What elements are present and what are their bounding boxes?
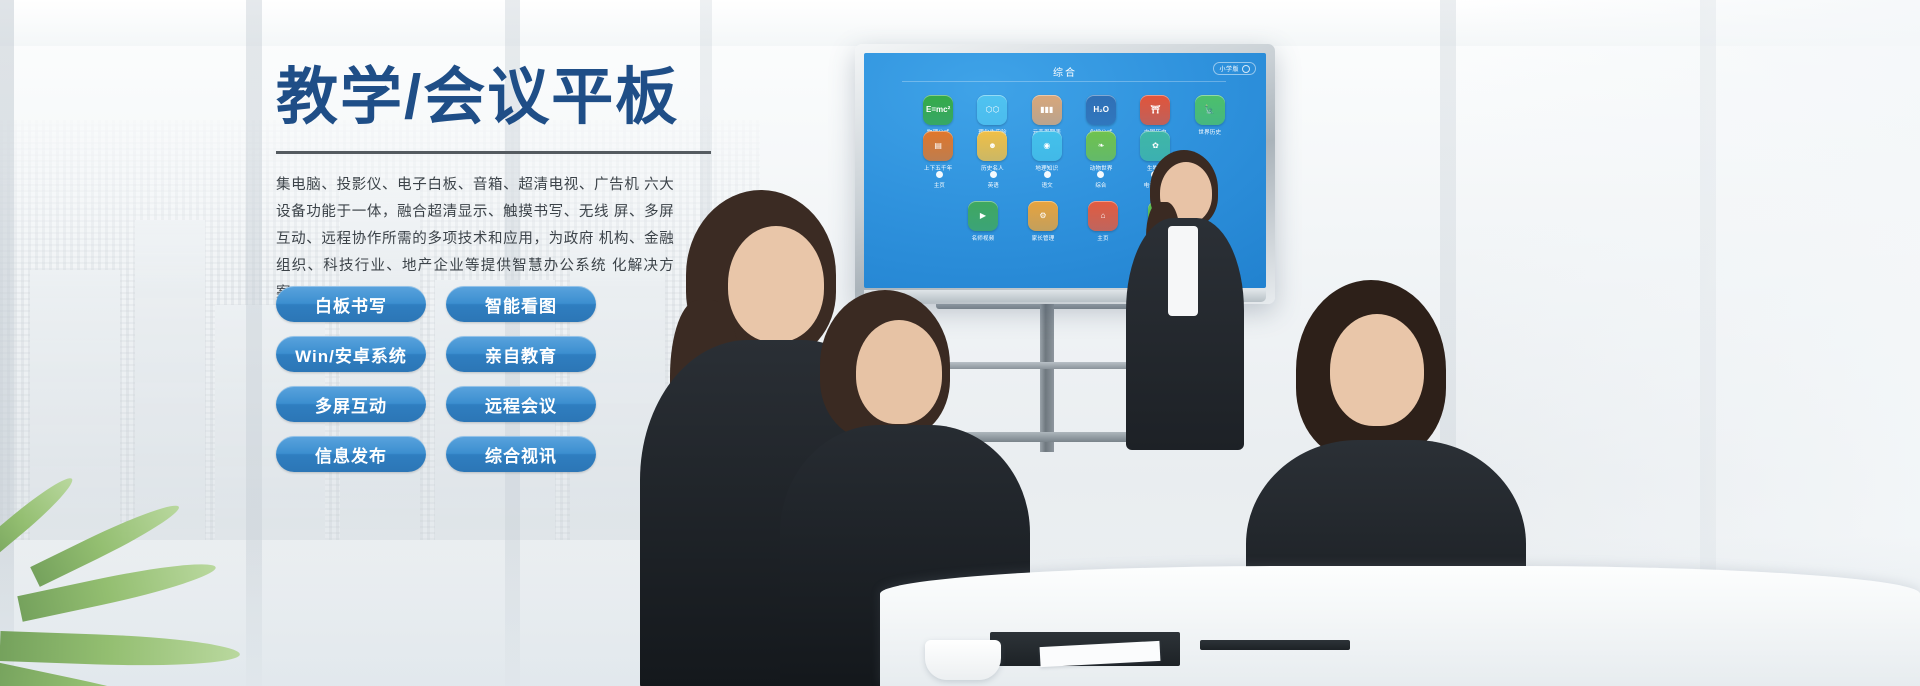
power-dot-icon — [1242, 65, 1250, 73]
feature-button-whiteboard-writing[interactable]: 白板书写 — [276, 286, 426, 322]
stand-pole — [1040, 302, 1054, 452]
subject-dot-icon — [1044, 171, 1051, 178]
laptop-right — [1200, 640, 1350, 650]
animal-world-icon: ❧ — [1086, 131, 1116, 161]
screen-divider — [902, 81, 1226, 82]
app-label: 名师视频 — [972, 234, 995, 242]
title-divider — [276, 151, 711, 154]
hero-copy: 教学/会议平板 集电脑、投影仪、电子白板、音箱、超清电视、广告机 六大设备功能于… — [276, 62, 796, 322]
hero-banner: 综合 小学版 E=mc²物理公式⬡⬡理化生实验▮▮▮元素周期表H₂O化学公式⛩中… — [0, 0, 1920, 686]
app-china-history[interactable]: ⛩中国历史 — [1131, 95, 1179, 136]
app-physics-formula[interactable]: E=mc²物理公式 — [914, 95, 962, 136]
app-five-thousand-years[interactable]: ▤上下五千年 — [914, 131, 962, 172]
physics-formula-icon: E=mc² — [923, 95, 953, 125]
subject-item[interactable]: 英语 — [968, 171, 1019, 189]
app-world-history[interactable]: 🗽世界历史 — [1186, 95, 1234, 136]
feature-button-multi-screen-interaction[interactable]: 多屏互动 — [276, 386, 426, 422]
app-teacher-video[interactable]: ▶名师视频 — [958, 201, 1008, 242]
subject-item[interactable]: 综合 — [1075, 171, 1126, 189]
historic-figures-icon: ☻ — [977, 131, 1007, 161]
person-presenter — [1120, 150, 1250, 450]
subject-dot-icon — [1097, 171, 1104, 178]
periodic-table-icon: ▮▮▮ — [1032, 95, 1062, 125]
subject-item[interactable]: 语文 — [1022, 171, 1073, 189]
app-periodic-table[interactable]: ▮▮▮元素周期表 — [1023, 95, 1071, 136]
app-chemistry-lab[interactable]: ⬡⬡理化生实验 — [968, 95, 1016, 136]
teacher-video-icon: ▶ — [968, 201, 998, 231]
app-parent-manage[interactable]: ⚙家长管理 — [1018, 201, 1068, 242]
app-chemistry-formula[interactable]: H₂O化学公式 — [1077, 95, 1125, 136]
subject-item[interactable]: 主页 — [914, 171, 965, 189]
chemistry-formula-icon: H₂O — [1086, 95, 1116, 125]
world-history-icon: 🗽 — [1195, 95, 1225, 125]
conference-table — [880, 566, 1920, 686]
feature-button-integrated-video[interactable]: 综合视讯 — [446, 436, 596, 472]
app-animal-world[interactable]: ❧动物世界 — [1077, 131, 1125, 172]
feature-button-parent-child-education[interactable]: 亲自教育 — [446, 336, 596, 372]
feature-button-grid: 白板书写智能看图Win/安卓系统亲自教育多屏互动远程会议信息发布综合视讯 — [276, 286, 606, 472]
geography-icon: ◉ — [1032, 131, 1062, 161]
subject-dot-icon — [990, 171, 997, 178]
app-grid-row1: E=mc²物理公式⬡⬡理化生实验▮▮▮元素周期表H₂O化学公式⛩中国历史🗽世界历… — [914, 95, 1234, 136]
screen-title: 综合 — [864, 64, 1266, 79]
five-thousand-years-icon: ▤ — [923, 131, 953, 161]
subject-label: 主页 — [934, 181, 945, 189]
subject-label: 综合 — [1095, 181, 1106, 189]
app-label: 主页 — [1097, 234, 1108, 242]
palm-plant — [0, 446, 310, 686]
app-historic-figures[interactable]: ☻历史名人 — [968, 131, 1016, 172]
app-label: 家长管理 — [1032, 234, 1055, 242]
grade-badge[interactable]: 小学版 — [1213, 62, 1256, 75]
feature-button-smart-image-view[interactable]: 智能看图 — [446, 286, 596, 322]
grade-badge-label: 小学版 — [1219, 64, 1239, 73]
china-history-icon: ⛩ — [1140, 95, 1170, 125]
subject-label: 英语 — [988, 181, 999, 189]
home-icon: ⌂ — [1088, 201, 1118, 231]
feature-button-win-android-system[interactable]: Win/安卓系统 — [276, 336, 426, 372]
page-title: 教学/会议平板 — [276, 62, 796, 133]
coffee-cup — [925, 640, 1001, 680]
parent-manage-icon: ⚙ — [1028, 201, 1058, 231]
subject-dot-icon — [936, 171, 943, 178]
feature-button-information-publishing[interactable]: 信息发布 — [276, 436, 426, 472]
feature-button-remote-conference[interactable]: 远程会议 — [446, 386, 596, 422]
subject-label: 语文 — [1042, 181, 1053, 189]
app-geography[interactable]: ◉地理知识 — [1023, 131, 1071, 172]
chemistry-lab-icon: ⬡⬡ — [977, 95, 1007, 125]
